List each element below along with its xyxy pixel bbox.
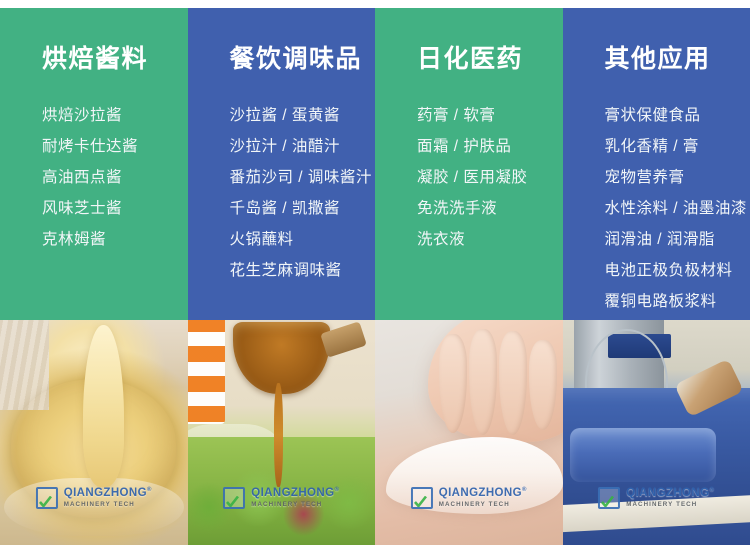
category-panel-4: 其他应用 膏状保健食品 乳化香精 / 膏 宠物营养膏 水性涂料 / 油墨油漆 润… bbox=[563, 8, 750, 320]
list-item: 千岛酱 / 凯撒酱 bbox=[230, 193, 376, 224]
category-photo-2: QIANGZHONG® MACHINERY TECH bbox=[188, 320, 376, 545]
list-item: 耐烤卡仕达酱 bbox=[42, 131, 188, 162]
list-item: 沙拉酱 / 蛋黄酱 bbox=[230, 100, 376, 131]
category-title-3: 日化医药 bbox=[417, 46, 563, 74]
list-item: 凝胶 / 医用凝胶 bbox=[417, 162, 563, 193]
list-item: 药膏 / 软膏 bbox=[417, 100, 563, 131]
top-spacer-4 bbox=[563, 0, 750, 8]
top-spacer-1 bbox=[0, 0, 188, 8]
application-column-daily-chemical-pharma[interactable]: 日化医药 药膏 / 软膏 面霜 / 护肤品 凝胶 / 医用凝胶 免洗洗手液 洗衣… bbox=[375, 0, 563, 545]
category-photo-3: QIANGZHONG® MACHINERY TECH bbox=[375, 320, 563, 545]
list-item: 烘焙沙拉酱 bbox=[42, 100, 188, 131]
list-item: 高油西点酱 bbox=[42, 162, 188, 193]
list-item: 膏状保健食品 bbox=[605, 100, 750, 131]
application-grid-page: 烘焙酱料 烘焙沙拉酱 耐烤卡仕达酱 高油西点酱 风味芝士酱 克林姆酱 bbox=[0, 0, 750, 545]
application-column-other-applications[interactable]: 其他应用 膏状保健食品 乳化香精 / 膏 宠物营养膏 水性涂料 / 油墨油漆 润… bbox=[563, 0, 750, 545]
photo-art-cream-on-skin bbox=[375, 320, 563, 545]
category-title-4: 其他应用 bbox=[605, 46, 750, 74]
application-column-catering-condiments[interactable]: 餐饮调味品 沙拉酱 / 蛋黄酱 沙拉汁 / 油醋汁 番茄沙司 / 调味酱汁 千岛… bbox=[188, 0, 376, 545]
cream-smear-decor bbox=[386, 437, 562, 514]
category-panel-2: 餐饮调味品 沙拉酱 / 蛋黄酱 沙拉汁 / 油醋汁 番茄沙司 / 调味酱汁 千岛… bbox=[188, 8, 376, 320]
list-item: 洗衣液 bbox=[417, 224, 563, 255]
pouring-stream-decor bbox=[274, 383, 283, 487]
list-item: 覆铜电路板浆料 bbox=[605, 286, 750, 317]
sauce-cup-decor bbox=[233, 322, 331, 394]
category-panel-3: 日化医药 药膏 / 软膏 面霜 / 护肤品 凝胶 / 医用凝胶 免洗洗手液 洗衣… bbox=[375, 8, 563, 320]
application-columns: 烘焙酱料 烘焙沙拉酱 耐烤卡仕达酱 高油西点酱 风味芝士酱 克林姆酱 bbox=[0, 0, 750, 545]
list-item: 番茄沙司 / 调味酱汁 bbox=[230, 162, 376, 193]
list-item: 面霜 / 护肤品 bbox=[417, 131, 563, 162]
category-photo-1: QIANGZHONG® MACHINERY TECH bbox=[0, 320, 188, 545]
category-title-2: 餐饮调味品 bbox=[230, 46, 376, 74]
list-item: 润滑油 / 润滑脂 bbox=[605, 224, 750, 255]
category-list-1: 烘焙沙拉酱 耐烤卡仕达酱 高油西点酱 风味芝士酱 克林姆酱 bbox=[42, 100, 188, 255]
striped-napkin-decor bbox=[188, 320, 226, 424]
list-item: 免洗洗手液 bbox=[417, 193, 563, 224]
photo-art-blue-paint-roller bbox=[563, 320, 750, 545]
list-item: 花生芝麻调味酱 bbox=[230, 255, 376, 286]
top-spacer-2 bbox=[188, 0, 376, 8]
list-item: 风味芝士酱 bbox=[42, 193, 188, 224]
list-item: 水性涂料 / 油墨油漆 bbox=[605, 193, 750, 224]
list-item: 克林姆酱 bbox=[42, 224, 188, 255]
list-item: 乳化香精 / 膏 bbox=[605, 131, 750, 162]
category-list-2: 沙拉酱 / 蛋黄酱 沙拉汁 / 油醋汁 番茄沙司 / 调味酱汁 千岛酱 / 凯撒… bbox=[230, 100, 376, 286]
paint-roller-decor bbox=[570, 428, 716, 482]
photo-art-vinaigrette-salad bbox=[188, 320, 376, 545]
top-spacer-3 bbox=[375, 0, 563, 8]
list-item: 沙拉汁 / 油醋汁 bbox=[230, 131, 376, 162]
category-photo-4: QIANGZHONG® MACHINERY TECH bbox=[563, 320, 750, 545]
category-list-3: 药膏 / 软膏 面霜 / 护肤品 凝胶 / 医用凝胶 免洗洗手液 洗衣液 bbox=[417, 100, 563, 255]
list-item: 火锅蘸料 bbox=[230, 224, 376, 255]
sauce-drip-decor bbox=[83, 325, 124, 487]
category-title-1: 烘焙酱料 bbox=[42, 46, 188, 74]
photo-art-cream-sauce-bowl bbox=[0, 320, 188, 545]
category-list-4: 膏状保健食品 乳化香精 / 膏 宠物营养膏 水性涂料 / 油墨油漆 润滑油 / … bbox=[605, 100, 750, 317]
list-item: 宠物营养膏 bbox=[605, 162, 750, 193]
category-panel-1: 烘焙酱料 烘焙沙拉酱 耐烤卡仕达酱 高油西点酱 风味芝士酱 克林姆酱 bbox=[0, 8, 188, 320]
application-column-baking-sauces[interactable]: 烘焙酱料 烘焙沙拉酱 耐烤卡仕达酱 高油西点酱 风味芝士酱 克林姆酱 bbox=[0, 0, 188, 545]
list-item: 电池正极负极材料 bbox=[605, 255, 750, 286]
bowl-rim-decor bbox=[4, 478, 184, 537]
